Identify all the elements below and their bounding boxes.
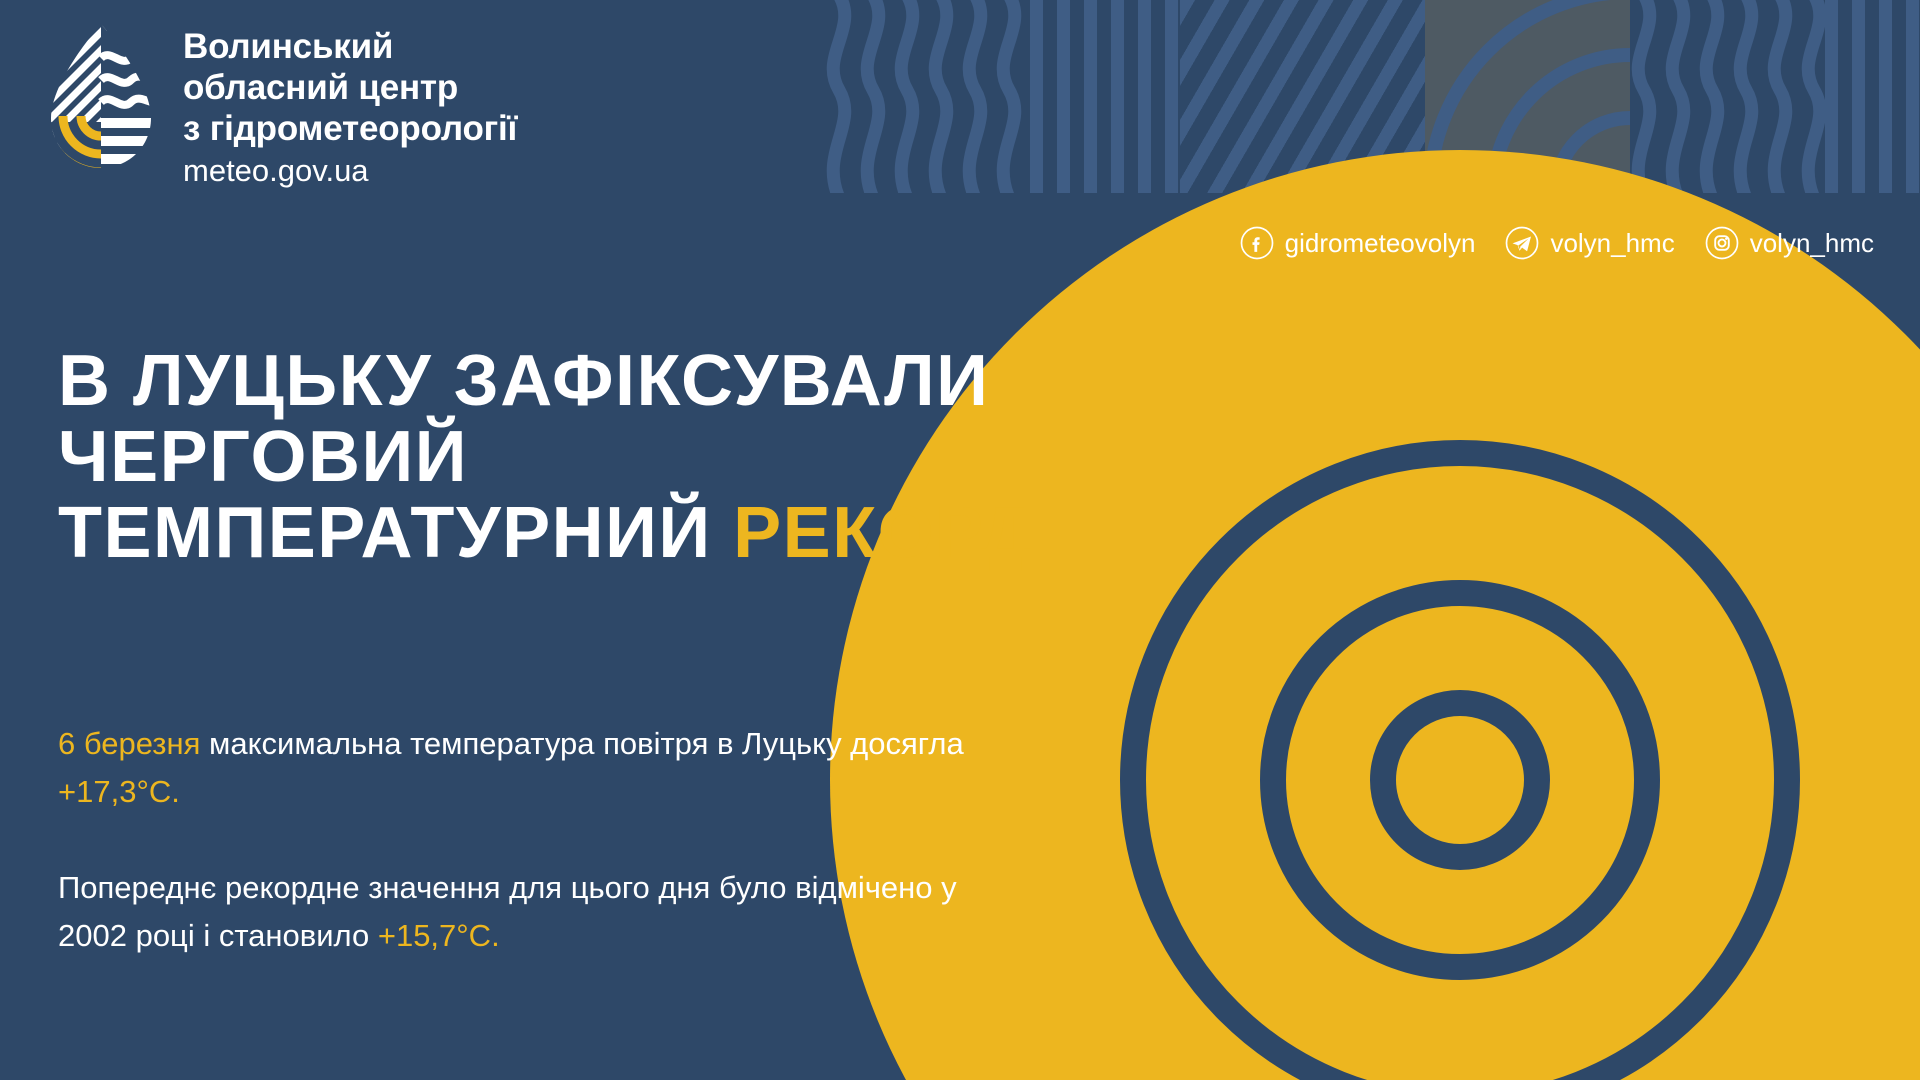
social-link-facebook[interactable]: gidrometeovolyn (1240, 226, 1476, 260)
body-copy-block: 6 березня максимальна температура повітр… (58, 720, 1018, 960)
headline-line-1: В ЛУЦЬКУ ЗАФІКСУВАЛИ (58, 343, 1238, 419)
instagram-icon (1705, 226, 1739, 260)
headline-line-2: ЧЕРГОВИЙ (58, 419, 1238, 495)
social-link-instagram[interactable]: volyn_hmc (1705, 226, 1874, 260)
social-links-row: gidrometeovolyn volyn_hmc volyn_hmc (1240, 226, 1874, 260)
social-link-telegram[interactable]: volyn_hmc (1505, 226, 1674, 260)
facebook-icon (1240, 226, 1274, 260)
logo-website-url[interactable]: meteo.gov.ua (183, 151, 517, 191)
body-paragraph-2: Попереднє рекордне значення для цього дн… (58, 864, 1018, 960)
logo-title-line-1: Волинський (183, 26, 517, 67)
instagram-handle: volyn_hmc (1750, 228, 1874, 258)
logo-text-block: Волинський обласний центр з гідрометеоро… (183, 22, 517, 191)
record-temperature-value: +17,3°C. (58, 774, 180, 809)
headline-accent-word: РЕКОРД (733, 493, 1033, 573)
record-date: 6 березня (58, 726, 200, 761)
ring-inner (1370, 690, 1550, 870)
organization-logo: Волинський обласний центр з гідрометеоро… (47, 22, 517, 191)
previous-record-temperature-value: +15,7°C. (378, 918, 500, 953)
weather-record-poster: Волинський обласний центр з гідрометеоро… (0, 0, 1920, 1080)
water-drop-meteo-logo-icon (47, 22, 155, 170)
headline-block: В ЛУЦЬКУ ЗАФІКСУВАЛИ ЧЕРГОВИЙ ТЕМПЕРАТУР… (58, 343, 1238, 571)
telegram-icon (1505, 226, 1539, 260)
body-paragraph-2-text: Попереднє рекордне значення для цього дн… (58, 870, 957, 953)
body-paragraph-1-text: максимальна температура повітря в Луцьку… (200, 726, 963, 761)
facebook-handle: gidrometeovolyn (1285, 228, 1476, 258)
logo-title-line-3: з гідрометеорології (183, 108, 517, 149)
headline-line-3: ТЕМПЕРАТУРНИЙ РЕКОРД (58, 495, 1238, 571)
telegram-handle: volyn_hmc (1550, 228, 1674, 258)
logo-title-line-2: обласний центр (183, 67, 517, 108)
headline-line-3-plain: ТЕМПЕРАТУРНИЙ (58, 493, 733, 573)
body-paragraph-1: 6 березня максимальна температура повітр… (58, 720, 1018, 816)
